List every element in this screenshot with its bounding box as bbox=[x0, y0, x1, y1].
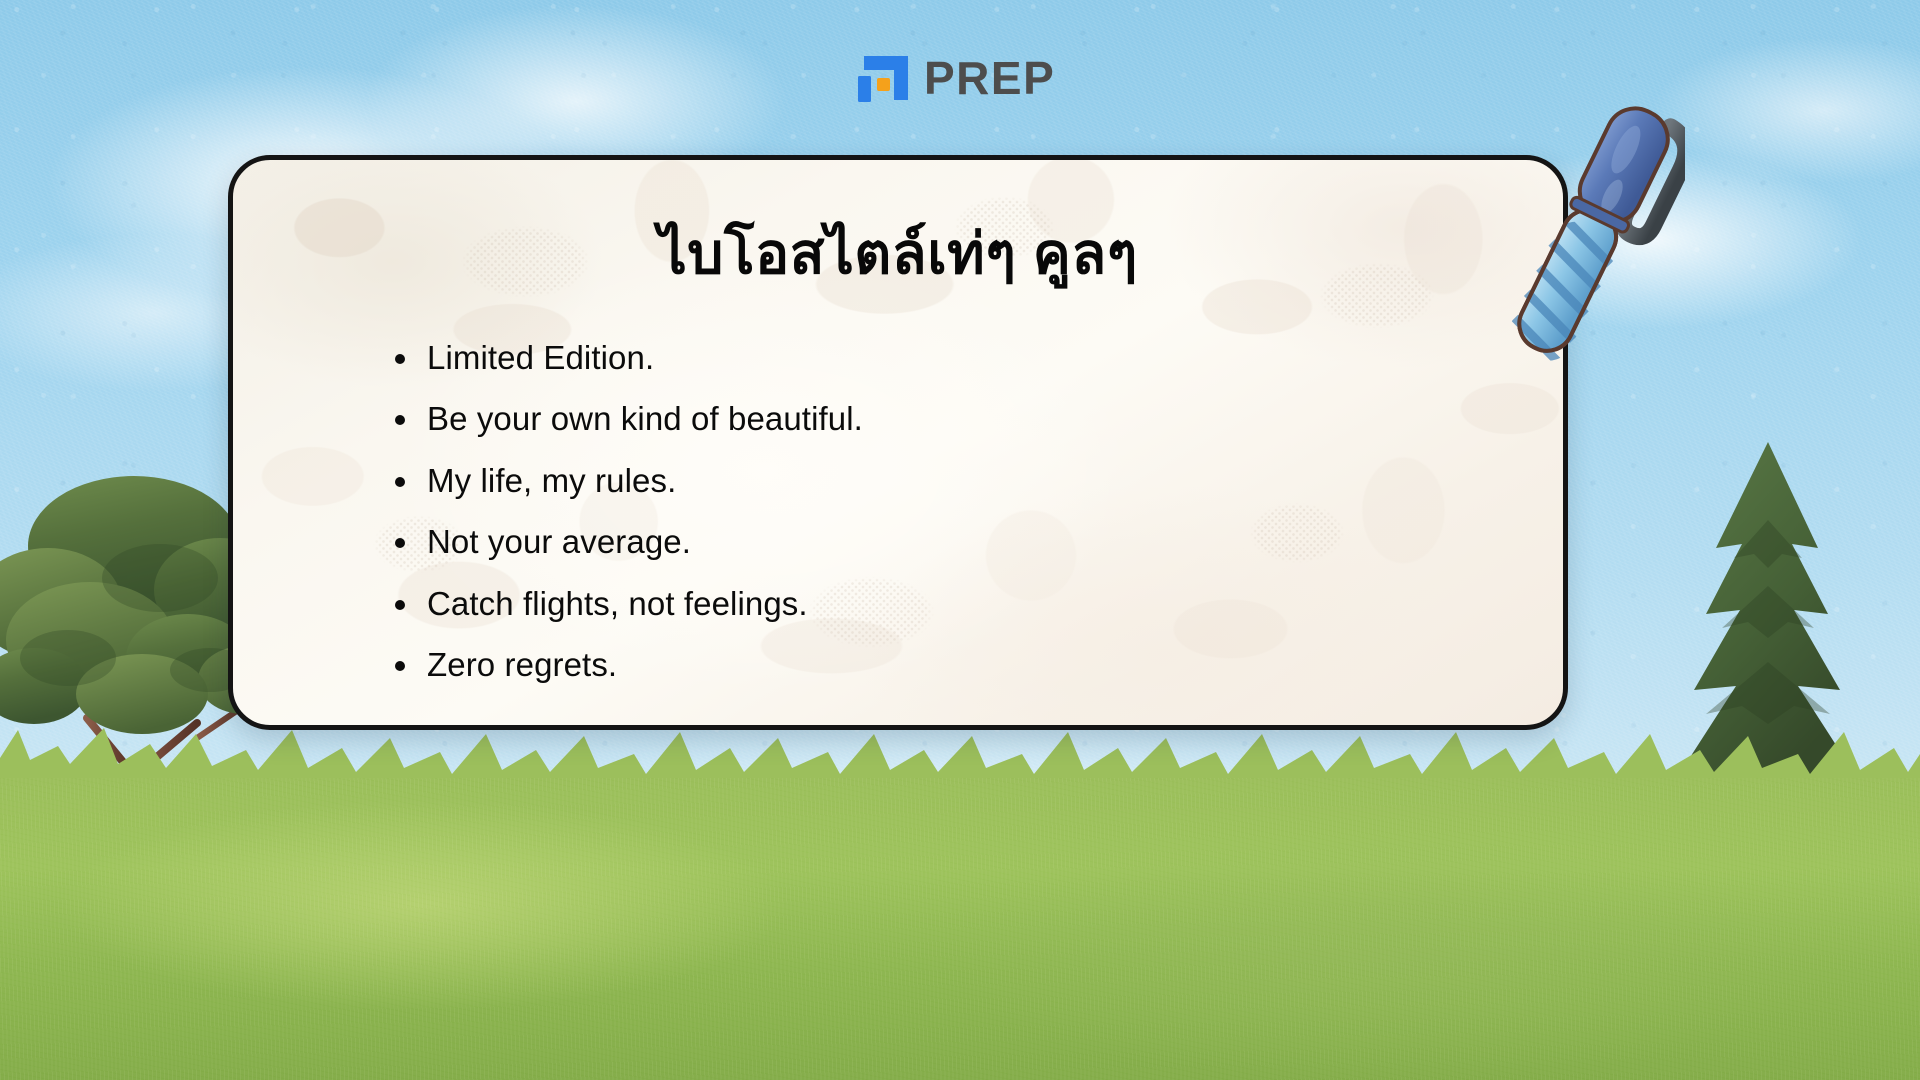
list-item: Not your average. bbox=[395, 525, 1563, 558]
prep-square-bracket-icon bbox=[856, 52, 912, 104]
prep-logo[interactable]: PREP bbox=[856, 52, 1055, 104]
list-item: Catch flights, not feelings. bbox=[395, 587, 1563, 620]
bio-style-list: Limited Edition. Be your own kind of bea… bbox=[395, 341, 1563, 682]
prep-wordmark: PREP bbox=[924, 55, 1055, 101]
page-title: ไบโอสไตล์เท่ๆ คูลๆ bbox=[233, 223, 1563, 286]
list-item: My life, my rules. bbox=[395, 464, 1563, 497]
grass-icon bbox=[0, 730, 1920, 1080]
list-item: Limited Edition. bbox=[395, 341, 1563, 374]
blue-pen-icon bbox=[1495, 80, 1685, 380]
list-item: Zero regrets. bbox=[395, 648, 1563, 681]
grass-field bbox=[0, 778, 1920, 1080]
content-card: ไบโอสไตล์เท่ๆ คูลๆ Limited Edition. Be y… bbox=[228, 155, 1568, 730]
illustration-scene: PREP bbox=[0, 0, 1920, 1080]
list-item: Be your own kind of beautiful. bbox=[395, 402, 1563, 435]
